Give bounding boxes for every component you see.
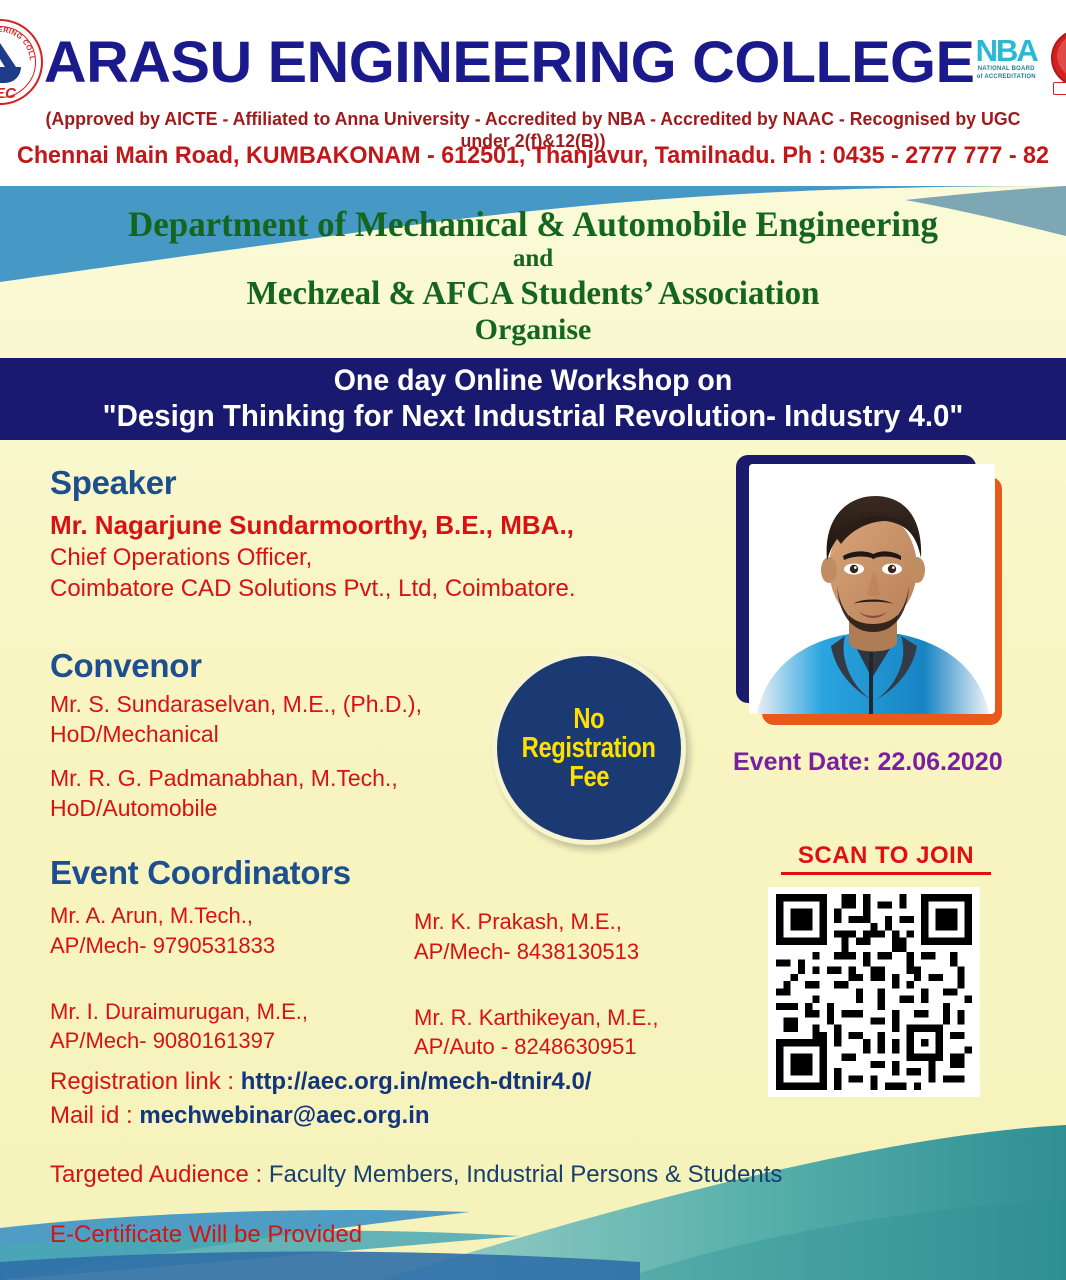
qr-code-icon bbox=[768, 887, 980, 1097]
convenor-section: Convenor Mr. S. Sundaraselvan, M.E., (Ph… bbox=[50, 648, 480, 838]
department-line-1: Department of Mechanical & Automobile En… bbox=[16, 204, 1050, 244]
no-registration-fee-badge: No Registration Fee bbox=[492, 651, 686, 845]
address-line: Chennai Main Road, KUMBAKONAM - 612501, … bbox=[16, 142, 1050, 170]
coordinator-name: Mr. I. Duraimurugan, M.E., bbox=[50, 997, 380, 1027]
convenor-name: Mr. S. Sundaraselvan, M.E., (Ph.D.), bbox=[50, 690, 480, 720]
coordinators-heading: Event Coordinators bbox=[50, 855, 730, 891]
workshop-title: "Design Thinking for Next Industrial Rev… bbox=[27, 399, 1040, 433]
e-certificate-note: E-Certificate Will be Provided bbox=[50, 1218, 910, 1252]
header-main-row: ARASU ENGINEERING COLLEGE AEC ARASU ENGI… bbox=[0, 22, 1066, 102]
coordinator-item: Mr. K. Prakash, M.E., AP/Mech- 843813051… bbox=[386, 901, 716, 966]
event-date: Event Date: 22.06.2020 bbox=[733, 748, 1003, 777]
nba-mark-text: NBA bbox=[975, 35, 1037, 66]
speaker-designation: Chief Operations Officer, bbox=[50, 542, 710, 574]
speaker-photo bbox=[749, 464, 995, 714]
convenor-name: Mr. R. G. Padmanabhan, M.Tech., bbox=[50, 764, 480, 794]
coordinator-contact: AP/Mech- 9080161397 bbox=[50, 1026, 380, 1056]
scan-to-join-heading: SCAN TO JOIN bbox=[781, 842, 991, 875]
workshop-subtitle: One day Online Workshop on bbox=[27, 365, 1040, 397]
coordinator-name: Mr. K. Prakash, M.E., bbox=[414, 907, 716, 937]
workshop-poster: ARASU ENGINEERING COLLEGE AEC ARASU ENGI… bbox=[0, 0, 1066, 1280]
department-block: Department of Mechanical & Automobile En… bbox=[0, 196, 1066, 358]
coordinators-section: Event Coordinators Mr. A. Arun, M.Tech.,… bbox=[50, 855, 730, 1062]
speaker-portrait-icon bbox=[749, 464, 995, 714]
coordinator-contact: AP/Auto - 8248630951 bbox=[414, 1032, 716, 1062]
aec-logo-text: AEC bbox=[0, 85, 43, 102]
convenor-item: Mr. S. Sundaraselvan, M.E., (Ph.D.), HoD… bbox=[50, 690, 480, 750]
mail-id-row: Mail id : mechwebinar@aec.org.in bbox=[50, 1099, 910, 1133]
registration-link-value[interactable]: http://aec.org.in/mech-dtnir4.0/ bbox=[241, 1068, 592, 1095]
speaker-organization: Coimbatore CAD Solutions Pvt., Ltd, Coim… bbox=[50, 573, 710, 605]
speaker-section: Speaker Mr. Nagarjune Sundarmoorthy, B.E… bbox=[50, 465, 710, 605]
convenor-role: HoD/Mechanical bbox=[50, 720, 480, 750]
convenor-heading: Convenor bbox=[50, 648, 480, 684]
targeted-audience-label: Targeted Audience : bbox=[50, 1161, 269, 1188]
fee-badge-line-3: Fee bbox=[569, 763, 609, 792]
coordinator-item: Mr. I. Duraimurugan, M.E., AP/Mech- 9080… bbox=[50, 997, 380, 1062]
college-header: ARASU ENGINEERING COLLEGE AEC ARASU ENGI… bbox=[0, 0, 1066, 186]
registration-link-label: Registration link : bbox=[50, 1068, 241, 1095]
department-line-3: Mechzeal & AFCA Students’ Association bbox=[16, 274, 1050, 313]
coordinator-name: Mr. R. Karthikeyan, M.E., bbox=[414, 1003, 716, 1033]
convenor-item: Mr. R. G. Padmanabhan, M.Tech., HoD/Auto… bbox=[50, 764, 480, 824]
coordinator-contact: AP/Mech- 9790531833 bbox=[50, 931, 380, 961]
targeted-audience-value: Faculty Members, Industrial Persons & St… bbox=[269, 1161, 783, 1188]
nba-subtitle-1: NATIONAL BOARD bbox=[975, 66, 1037, 74]
coordinator-item: Mr. A. Arun, M.Tech., AP/Mech- 979053183… bbox=[50, 901, 380, 966]
workshop-title-banner: One day Online Workshop on "Design Think… bbox=[0, 358, 1066, 440]
mail-id-label: Mail id : bbox=[50, 1102, 139, 1129]
fee-badge-line-2: Registration bbox=[522, 734, 656, 763]
fee-badge-line-1: No bbox=[574, 705, 605, 734]
nba-accreditation-logo-icon: NBA NATIONAL BOARD of ACCREDITATION bbox=[975, 27, 1037, 97]
registration-qr-code[interactable] bbox=[768, 887, 980, 1097]
nba-subtitle-2: of ACCREDITATION bbox=[975, 74, 1037, 82]
speaker-photo-frame bbox=[736, 455, 1002, 727]
coordinators-grid: Mr. A. Arun, M.Tech., AP/Mech- 979053183… bbox=[50, 901, 730, 1062]
coordinator-name: Mr. A. Arun, M.Tech., bbox=[50, 901, 380, 931]
college-name: ARASU ENGINEERING COLLEGE bbox=[44, 29, 975, 96]
department-line-2: and bbox=[0, 244, 1066, 274]
targeted-audience-row: Targeted Audience : Faculty Members, Ind… bbox=[50, 1158, 910, 1192]
coordinator-item: Mr. R. Karthikeyan, M.E., AP/Auto - 8248… bbox=[386, 997, 716, 1062]
mail-id-value[interactable]: mechwebinar@aec.org.in bbox=[139, 1102, 429, 1129]
naac-accreditation-logo-icon: NAAC bbox=[1047, 27, 1066, 97]
convenor-role: HoD/Automobile bbox=[50, 794, 480, 824]
department-line-4: Organise bbox=[0, 313, 1066, 347]
aec-college-logo-icon: ARASU ENGINEERING COLLEGE AEC bbox=[0, 19, 43, 105]
coordinator-contact: AP/Mech- 8438130513 bbox=[414, 937, 716, 967]
speaker-heading: Speaker bbox=[50, 465, 710, 501]
speaker-name: Mr. Nagarjune Sundarmoorthy, B.E., MBA., bbox=[50, 509, 710, 542]
